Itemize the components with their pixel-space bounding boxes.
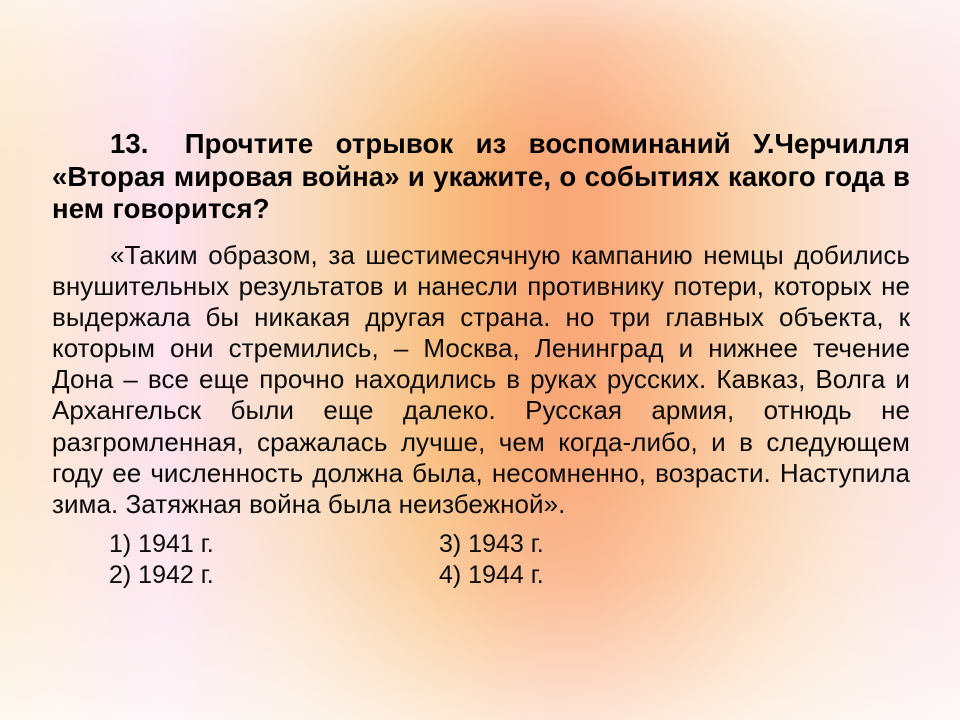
- answer-row: 1) 1941 г. 3) 1943 г.: [52, 529, 910, 560]
- answer-options-list: 1) 1941 г. 3) 1943 г. 2) 1942 г. 4) 1944…: [52, 529, 910, 591]
- slide-content: 13. Прочтите отрывок из воспоминаний У.Ч…: [52, 128, 910, 591]
- answer-option-2[interactable]: 2) 1942 г.: [109, 560, 214, 591]
- slide-canvas: 13. Прочтите отрывок из воспоминаний У.Ч…: [0, 0, 960, 720]
- quote-paragraph: «Таким образом, за шестимесячную кампани…: [52, 240, 910, 520]
- question-heading: 13. Прочтите отрывок из воспоминаний У.Ч…: [52, 128, 910, 226]
- answer-option-3[interactable]: 3) 1943 г.: [439, 529, 544, 560]
- answer-option-4[interactable]: 4) 1944 г.: [439, 560, 544, 591]
- answer-row: 2) 1942 г. 4) 1944 г.: [52, 560, 910, 591]
- answer-option-1[interactable]: 1) 1941 г.: [109, 529, 214, 560]
